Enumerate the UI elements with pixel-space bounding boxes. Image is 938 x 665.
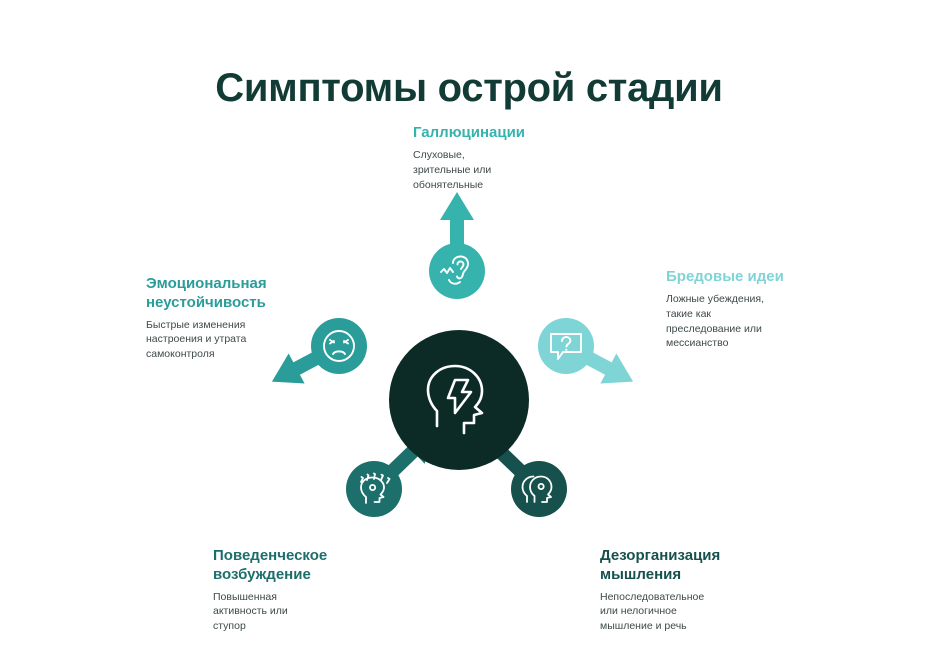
- node-delusions[interactable]: [538, 318, 594, 374]
- label-hallucinations: Галлюцинации Слуховые, зрительные или об…: [413, 124, 603, 192]
- label-delusions: Бредовые идеи Ложные убеждения, такие ка…: [666, 268, 856, 351]
- label-disorganized: Дезорганизация мышления Непоследовательн…: [600, 547, 800, 634]
- node-hallucinations[interactable]: [429, 243, 485, 299]
- speech-bubble-question-icon: [549, 330, 583, 362]
- label-delusions-heading: Бредовые идеи: [666, 268, 856, 287]
- center-node[interactable]: [389, 330, 529, 470]
- radial-diagram: Галлюцинации Слуховые, зрительные или об…: [0, 0, 938, 665]
- label-emotional-heading: Эмоциональная неустойчивость: [146, 275, 331, 313]
- label-disorganized-body: Непоследовательное или нелогичное мышлен…: [600, 590, 800, 635]
- infographic-canvas: Симптомы острой стадии: [0, 0, 938, 665]
- label-disorganized-heading: Дезорганизация мышления: [600, 547, 800, 585]
- label-hallucinations-heading: Галлюцинации: [413, 124, 603, 143]
- label-delusions-body: Ложные убеждения, такие как преследовани…: [666, 292, 856, 352]
- label-emotional: Эмоциональная неустойчивость Быстрые изм…: [146, 275, 331, 362]
- node-behavioral[interactable]: [346, 461, 402, 517]
- label-behavioral-heading: Поведенческое возбуждение: [213, 547, 403, 585]
- label-emotional-body: Быстрые изменения настроения и утрата са…: [146, 318, 331, 363]
- node-disorganized[interactable]: [511, 461, 567, 517]
- label-behavioral: Поведенческое возбуждение Повышенная акт…: [213, 547, 403, 634]
- head-lightning-icon: [424, 363, 494, 437]
- agitated-head-icon: [356, 472, 392, 506]
- ear-soundwave-icon: [440, 255, 474, 287]
- label-behavioral-body: Повышенная активность или ступор: [213, 590, 403, 635]
- label-hallucinations-body: Слуховые, зрительные или обонятельные: [413, 148, 603, 193]
- overlapping-heads-icon: [521, 473, 557, 505]
